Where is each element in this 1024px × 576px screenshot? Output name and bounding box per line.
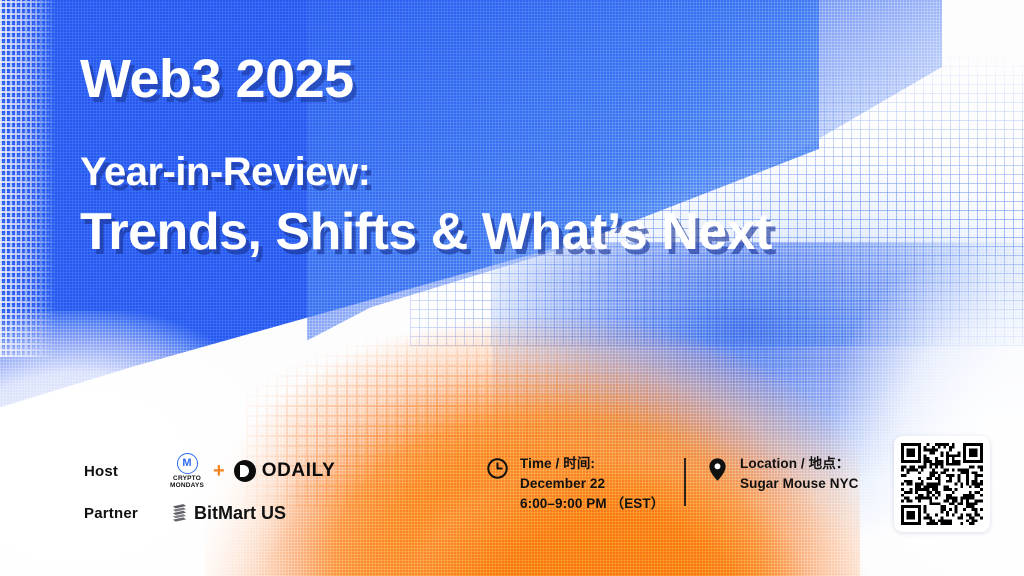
location-info-block: Location / 地点： Sugar Mouse NYC [706,456,859,492]
bitmart-logo[interactable]: BitMart US [170,503,286,524]
headline-line-1: Web3 2025 [80,52,940,106]
crypto-mondays-monogram: M [182,458,191,469]
clock-icon [486,457,509,485]
time-hours: 6:00–9:00 PM （EST） [520,496,664,512]
left-edge-dither-strip [0,0,56,357]
odaily-wordmark: ODAILY [262,460,336,482]
crypto-mondays-wordmark: CRYPTO MONDAYS [170,475,204,490]
credit-row-host: Host M CRYPTO MONDAYS + ODAILY [84,450,335,492]
plus-separator-icon: + [213,461,225,481]
bottom-left-white-wash [0,311,369,576]
headline-line-3: Trends, Shifts & What’s Next [80,206,940,258]
crypto-mondays-badge-icon: M [177,453,198,474]
crypto-mondays-logo[interactable]: M CRYPTO MONDAYS [170,453,204,490]
time-heading: Time / 时间: [520,456,664,472]
location-heading: Location / 地点： [740,456,859,472]
host-logo-group: M CRYPTO MONDAYS + ODAILY [170,453,335,490]
credit-row-partner: Partner Bit [84,492,335,534]
location-info-lines: Location / 地点： Sugar Mouse NYC [740,456,859,492]
crypto-mondays-word-line-2: MONDAYS [170,482,204,489]
host-label: Host [84,463,170,480]
orange-cloud-secondary [348,323,880,576]
credits-block: Host M CRYPTO MONDAYS + ODAILY [84,450,335,534]
info-divider [684,458,686,506]
time-info-lines: Time / 时间: December 22 6:00–9:00 PM （EST… [520,456,664,512]
headline-block: Web3 2025 Year-in-Review: Trends, Shifts… [80,52,940,258]
odaily-logo[interactable]: ODAILY [234,460,336,482]
time-info-block: Time / 时间: December 22 6:00–9:00 PM （EST… [486,456,664,512]
partner-logo-group: BitMart US [170,503,286,524]
bitmart-wordmark: BitMart US [194,503,286,524]
time-date: December 22 [520,476,664,492]
bitmart-mark-icon [170,503,189,523]
qr-code[interactable] [894,436,990,532]
odaily-mark-icon [234,460,256,482]
headline-line-2: Year-in-Review: [80,152,940,192]
crypto-mondays-word-line-1: CRYPTO [170,475,204,482]
event-poster: Web3 2025 Year-in-Review: Trends, Shifts… [0,0,1024,576]
location-venue: Sugar Mouse NYC [740,476,859,492]
partner-label: Partner [84,505,170,522]
map-pin-icon [706,457,729,487]
